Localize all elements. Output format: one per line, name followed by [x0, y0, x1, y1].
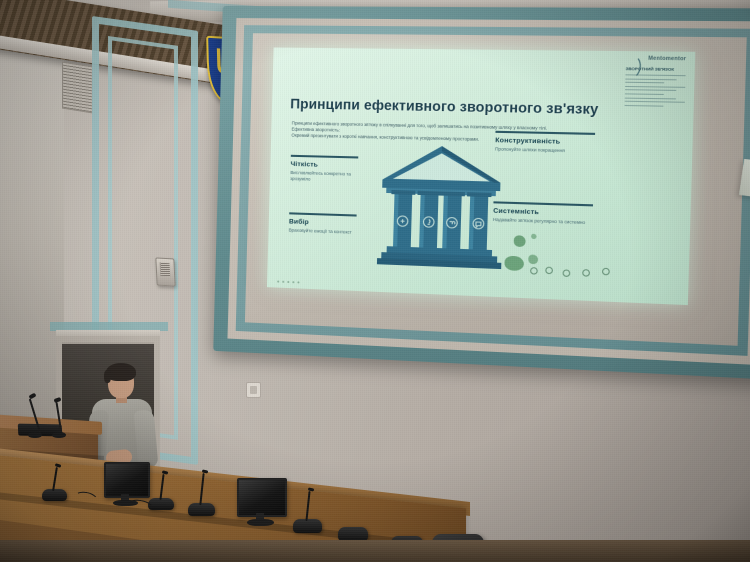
sidebar-line: [625, 90, 676, 92]
slide-sidebar-heading: ЗВОРОТНИЙ ЗВ'ЯЗОК: [626, 66, 689, 72]
sidebar-line: [625, 101, 685, 103]
sidebar-line: [625, 97, 676, 99]
wall-outlet-icon: [246, 382, 261, 398]
projection-screen-frame: Mentomentor Принципи ефективного зворотн…: [213, 6, 750, 380]
desk-microphone-5: [338, 527, 368, 541]
desk-microphone-3: [188, 503, 215, 516]
slide-sidebar: ЗВОРОТНИЙ ЗВ'ЯЗОК: [622, 66, 688, 205]
pillar-description: Висловлюйтесь конкретно та зрозуміло: [290, 170, 358, 184]
pillar-description: Пропонуйте шляхи покращення: [495, 146, 595, 155]
photo-scene: Mentomentor Принципи ефективного зворотн…: [0, 0, 750, 562]
temple-graphic: [376, 143, 506, 273]
sidebar-line: [625, 82, 664, 84]
slide-title: Принципи ефективного зворотного зв'язку: [290, 96, 599, 117]
pillar-rule: [289, 212, 356, 216]
slide-logo: Mentomentor: [648, 56, 686, 63]
sidebar-line: [625, 93, 664, 95]
pillar-label-choice: Вибір Враховуйте емоції та контекст: [289, 212, 357, 236]
pillar-title: Вибір: [289, 218, 357, 227]
pillar-label-constructiveness: Конструктивність Пропонуйте шляхи покращ…: [495, 131, 595, 155]
ventilation-grille-icon: [62, 62, 93, 114]
projected-slide: Mentomentor Принципи ефективного зворотн…: [267, 48, 695, 306]
pillar-label-systemicity: Системність Надавайте зв'язок регулярно …: [493, 201, 593, 226]
floor: [0, 540, 750, 562]
slide-progress-dots: [277, 281, 299, 284]
pillar-label-clarity: Чіткість Висловлюйтесь конкретно та зроз…: [290, 155, 358, 184]
pillar-title: Конструктивність: [495, 137, 595, 147]
desk-microphone-4: [293, 519, 322, 533]
desk-monitor-2: [237, 478, 287, 517]
wall-speaker-icon: [155, 257, 175, 286]
pillar-rule: [493, 201, 593, 206]
presenter-hair: [106, 363, 136, 381]
desk-microphone-1: [42, 489, 67, 501]
desk-monitor-1: [104, 462, 150, 498]
pillar-description: Надавайте зв'язок регулярно та системно: [493, 217, 593, 227]
sidebar-line: [625, 74, 685, 76]
pillar-title: Системність: [493, 207, 593, 217]
presenter-arm-right: [134, 409, 159, 469]
sidebar-line: [625, 105, 664, 107]
sidebar-line: [625, 86, 685, 88]
pillar-title: Чіткість: [291, 160, 359, 169]
sidebar-line: [625, 78, 676, 80]
wall-left: [0, 0, 64, 438]
pillar-rule: [495, 131, 595, 135]
pillar-description: Враховуйте емоції та контекст: [289, 228, 357, 236]
pillar-rule: [291, 155, 358, 158]
